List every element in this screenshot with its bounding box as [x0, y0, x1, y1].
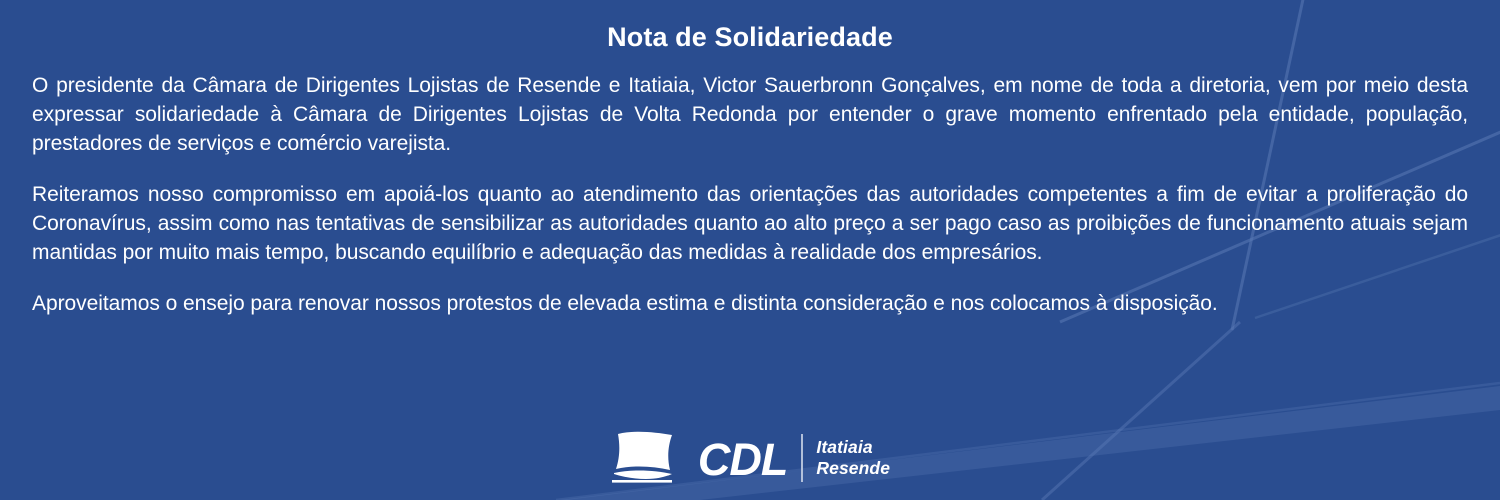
cdl-city-line-2: Resende	[816, 458, 890, 479]
cdl-city-lines: Itatiaia Resende	[816, 437, 890, 480]
note-content: Nota de Solidariedade O presidente da Câ…	[0, 0, 1500, 500]
cdl-logo-group: CDL Itatiaia Resende	[610, 430, 890, 486]
page-title: Nota de Solidariedade	[0, 0, 1500, 53]
cdl-flag-icon	[610, 430, 696, 486]
paragraph-1: O presidente da Câmara de Dirigentes Loj…	[32, 72, 1468, 159]
logo-divider	[801, 434, 803, 482]
cdl-city-line-1: Itatiaia	[816, 437, 890, 458]
note-body: O presidente da Câmara de Dirigentes Loj…	[0, 72, 1500, 319]
paragraph-3: Aproveitamos o ensejo para renovar nosso…	[32, 290, 1468, 319]
cdl-acronym: CDL	[698, 437, 787, 482]
solidarity-note-card: Nota de Solidariedade O presidente da Câ…	[0, 0, 1500, 500]
cdl-logo: CDL Itatiaia Resende	[0, 430, 1500, 486]
paragraph-2: Reiteramos nosso compromisso em apoiá-lo…	[32, 181, 1468, 268]
